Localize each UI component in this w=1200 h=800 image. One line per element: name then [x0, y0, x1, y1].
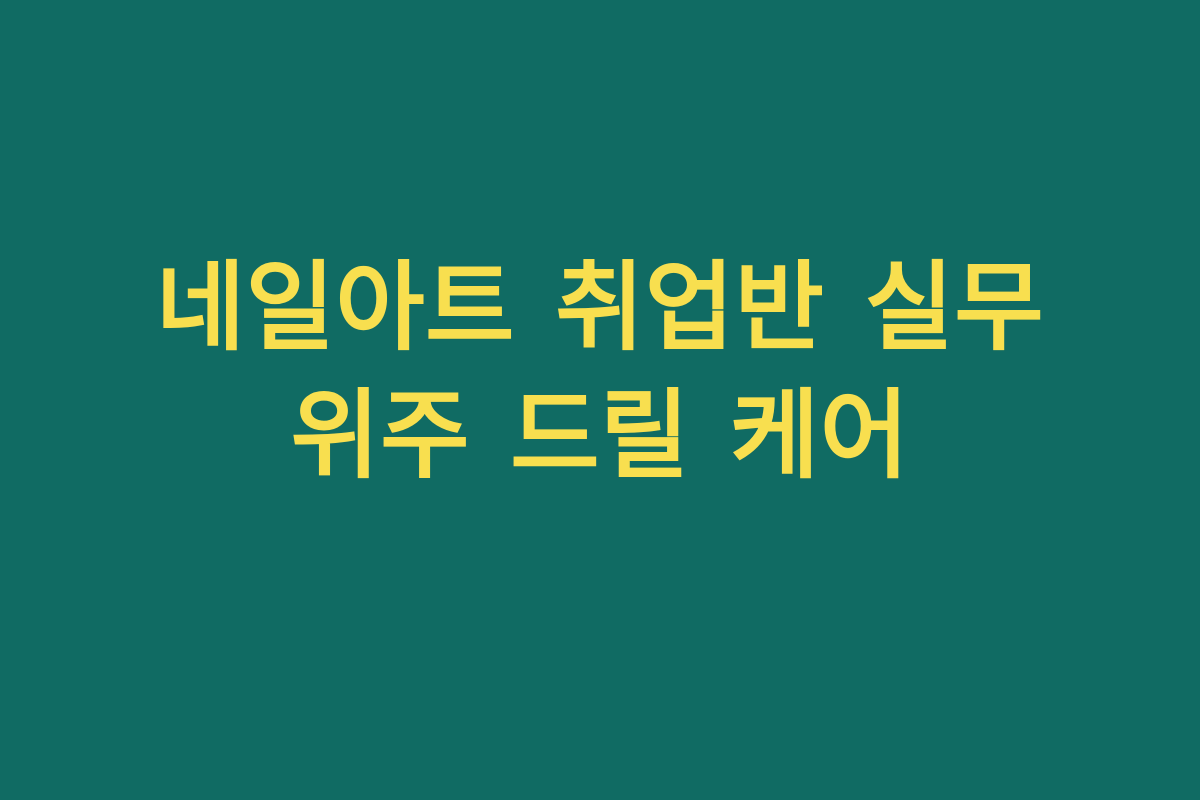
banner-headline: 네일아트 취업반 실무 위주 드릴 케어: [80, 244, 1120, 500]
banner-canvas: 네일아트 취업반 실무 위주 드릴 케어: [0, 0, 1200, 800]
